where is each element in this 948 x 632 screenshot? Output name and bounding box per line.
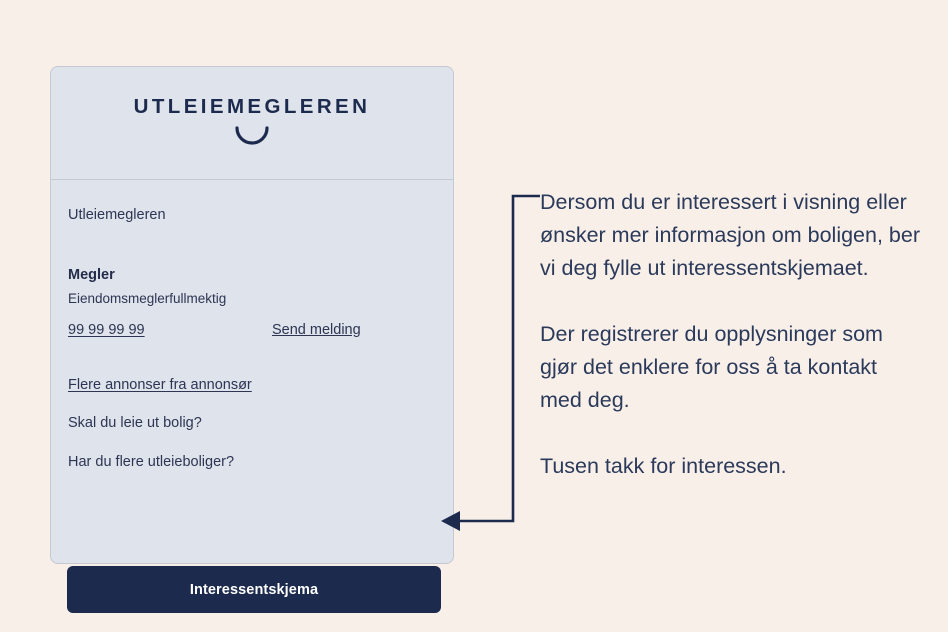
more-rentals-question-link[interactable]: Har du flere utleieboliger?: [68, 454, 234, 470]
annotation-paragraph-2: Der registrerer du opplysninger som gjør…: [540, 318, 920, 417]
broker-card: UTLEIEMEGLEREN Utleiemegleren Megler Eie…: [50, 66, 454, 564]
annotation-paragraph-1: Dersom du er interessert i visning eller…: [540, 186, 920, 285]
screenshot-canvas: UTLEIEMEGLEREN Utleiemegleren Megler Eie…: [0, 0, 948, 632]
smile-arc-icon: [51, 126, 453, 150]
agent-role-subtitle: Eiendomsmeglerfullmektig: [68, 291, 226, 306]
interest-form-button[interactable]: Interessentskjema: [67, 566, 441, 613]
brand-wordmark: UTLEIEMEGLEREN: [51, 95, 453, 119]
annotation-text: Dersom du er interessert i visning eller…: [540, 186, 920, 483]
company-name: Utleiemegleren: [68, 207, 166, 223]
rent-out-question-link[interactable]: Skal du leie ut bolig?: [68, 415, 202, 431]
connector-line: [456, 196, 540, 521]
more-ads-from-advertiser-link[interactable]: Flere annonser fra annonsør: [68, 377, 252, 393]
agent-phone-link[interactable]: 99 99 99 99: [68, 322, 145, 338]
card-header: UTLEIEMEGLEREN: [51, 67, 453, 180]
agent-role-title: Megler: [68, 267, 115, 283]
card-body: Utleiemegleren Megler Eiendomsmeglerfull…: [51, 181, 453, 563]
send-message-link[interactable]: Send melding: [272, 322, 361, 338]
annotation-paragraph-3: Tusen takk for interessen.: [540, 450, 920, 483]
